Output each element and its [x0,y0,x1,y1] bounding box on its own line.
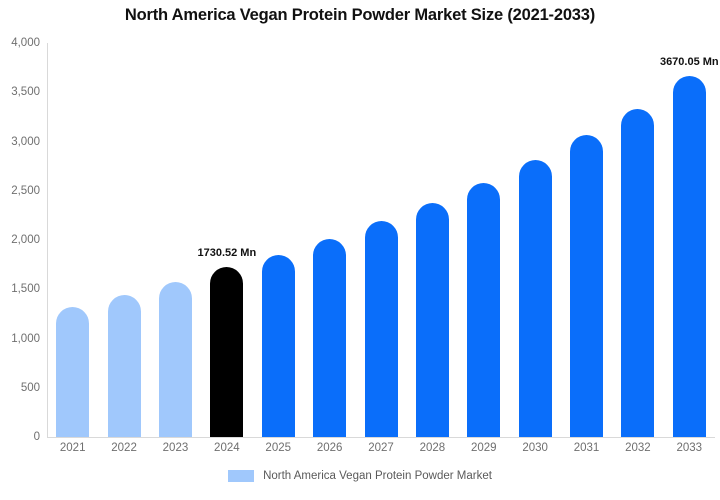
y-axis-tick-1500: 1,500 [0,283,40,295]
y-axis-tick-2000: 2,000 [0,234,40,246]
y-axis-tick-500: 500 [0,382,40,394]
bar-2030[interactable] [519,160,552,437]
legend-swatch-icon [228,470,254,482]
bar-2023[interactable] [159,282,192,437]
x-axis-tick-2032: 2032 [625,442,651,454]
chart-container: North America Vegan Protein Powder Marke… [0,0,720,500]
bar-2025[interactable] [262,255,295,437]
bar-2024[interactable] [210,267,243,437]
x-axis-tick-2026: 2026 [317,442,343,454]
x-axis-tick-2030: 2030 [522,442,548,454]
bar-2027[interactable] [365,221,398,437]
x-axis-tick-2025: 2025 [265,442,291,454]
bar-2022[interactable] [108,295,141,437]
x-axis-tick-2031: 2031 [574,442,600,454]
bar-value-label-2033: 3670.05 Mn [660,56,719,68]
y-axis-tick-0: 0 [0,431,40,443]
bar-2033[interactable] [673,76,706,437]
bar-2029[interactable] [467,183,500,437]
plot-area: 1730.52 Mn3670.05 Mn [47,43,715,437]
y-axis-tick-3000: 3,000 [0,136,40,148]
bar-2021[interactable] [56,307,89,437]
y-axis-tick-1000: 1,000 [0,333,40,345]
x-axis-tick-2028: 2028 [420,442,446,454]
legend-label: North America Vegan Protein Powder Marke… [263,470,492,482]
y-axis-tick-3500: 3,500 [0,86,40,98]
x-axis-tick-2027: 2027 [368,442,394,454]
x-axis-tick-2022: 2022 [111,442,137,454]
bar-2026[interactable] [313,239,346,437]
y-axis-tick-2500: 2,500 [0,185,40,197]
chart-legend: North America Vegan Protein Powder Marke… [0,470,720,482]
x-axis-tick-2033: 2033 [677,442,703,454]
bar-2031[interactable] [570,135,603,437]
x-axis-line [47,437,715,438]
bar-value-label-2024: 1730.52 Mn [197,247,256,259]
x-axis-tick-2021: 2021 [60,442,86,454]
bar-2028[interactable] [416,203,449,437]
bar-2032[interactable] [621,109,654,437]
x-axis-tick-2029: 2029 [471,442,497,454]
x-axis-tick-2023: 2023 [163,442,189,454]
y-axis-tick-4000: 4,000 [0,37,40,49]
x-axis-tick-2024: 2024 [214,442,240,454]
